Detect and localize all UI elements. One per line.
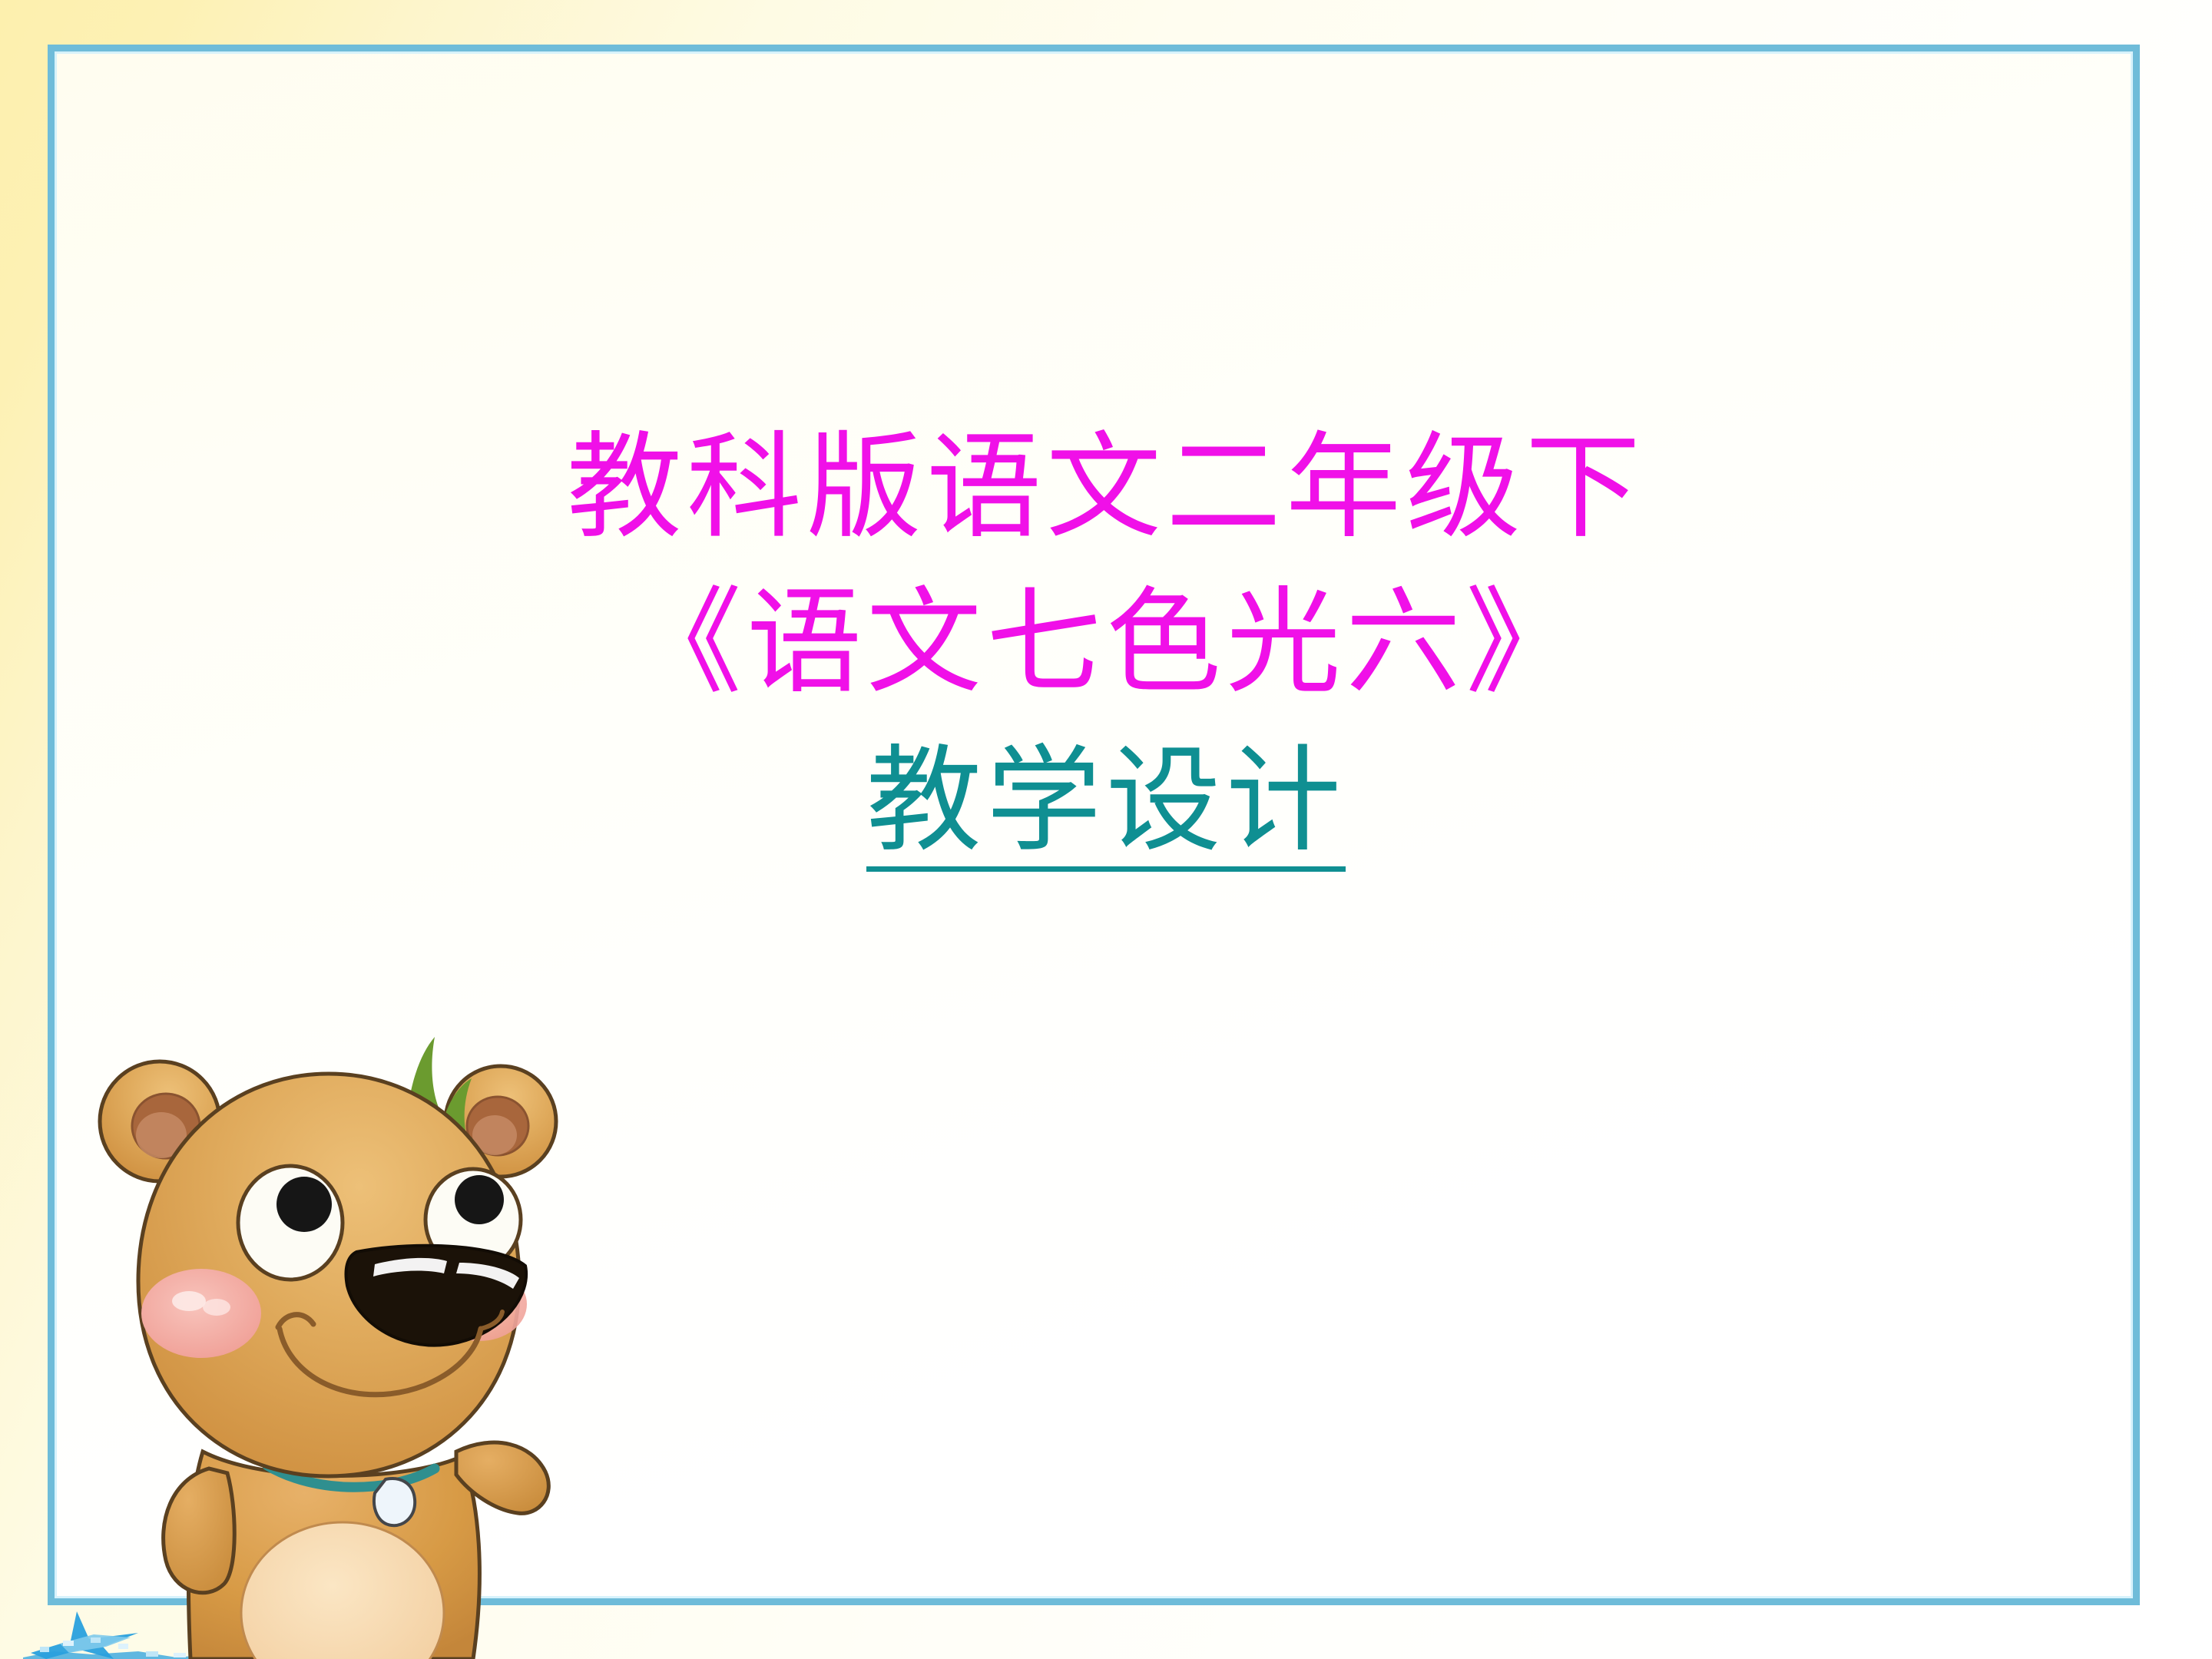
title-line-1: 教科版语文二年级下: [0, 430, 2212, 545]
bear-left-eye: [238, 1166, 343, 1280]
bear-head: [100, 1037, 556, 1476]
slide-canvas: 教科版语文二年级下 《语文七色光六》 教学设计: [0, 0, 2212, 1659]
title-line-3[interactable]: 教学设计: [0, 743, 2212, 872]
title-block: 教科版语文二年级下 《语文七色光六》 教学设计: [0, 430, 2212, 872]
title-line-3-label: 教学设计: [866, 743, 1346, 872]
cartoon-bear-illustration: [74, 1022, 581, 1659]
title-line-2: 《语文七色光六》: [0, 585, 2212, 700]
